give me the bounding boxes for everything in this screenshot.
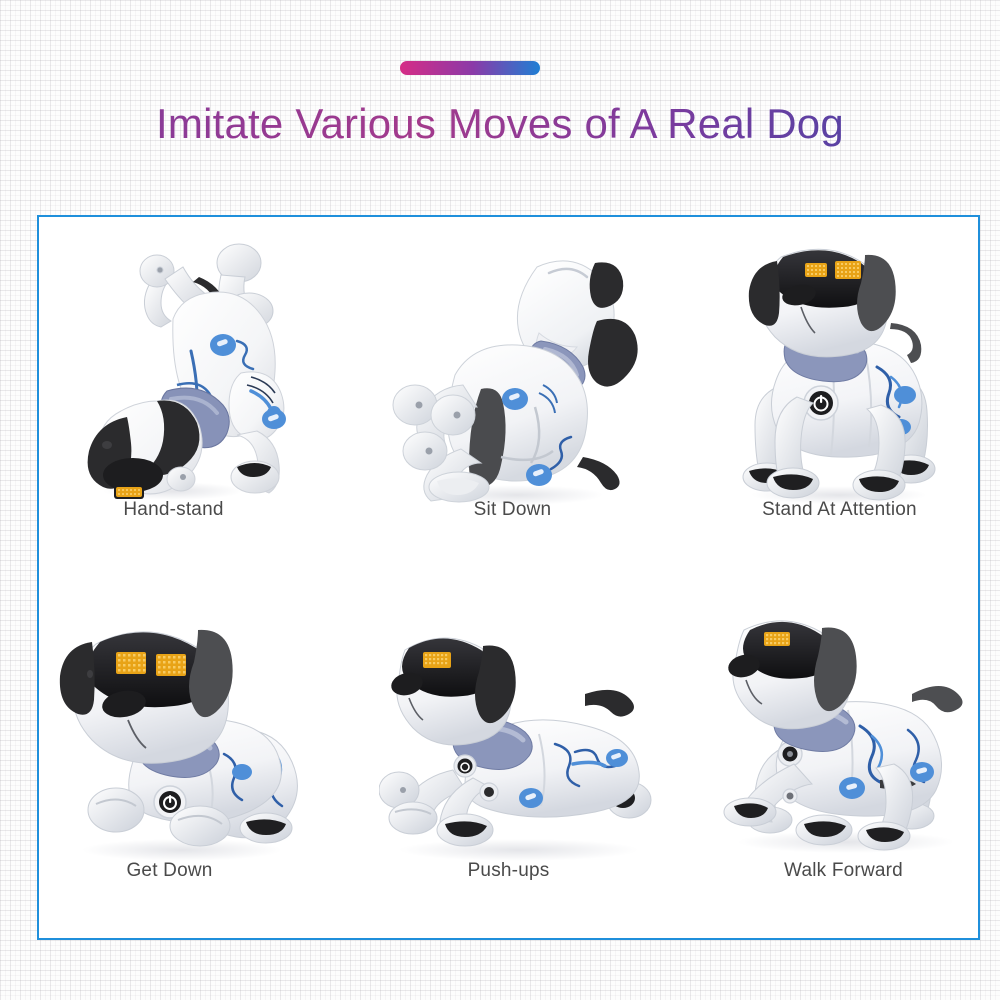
infographic-page: Imitate Various Moves of A Real Dog xyxy=(0,0,1000,1000)
robot-dog-handstand-illustration xyxy=(29,223,342,501)
move-card-get-down[interactable]: Get Down xyxy=(39,578,352,939)
page-title: Imitate Various Moves of A Real Dog xyxy=(0,100,1000,148)
move-card-push-ups[interactable]: Push-ups xyxy=(352,578,665,939)
moves-showcase-card: Hand-stand xyxy=(37,215,980,940)
robot-dog-sit-down-illustration xyxy=(362,229,675,507)
move-card-hand-stand[interactable]: Hand-stand xyxy=(39,217,352,578)
move-label-push-ups: Push-ups xyxy=(468,860,550,882)
move-label-stand-at-attention: Stand At Attention xyxy=(762,499,917,521)
accent-bar xyxy=(400,61,540,75)
move-label-hand-stand: Hand-stand xyxy=(123,499,223,521)
robot-dog-walk-forward-illustration xyxy=(689,594,1000,872)
move-label-sit-down: Sit Down xyxy=(474,499,552,521)
move-card-sit-down[interactable]: Sit Down xyxy=(352,217,665,578)
robot-dog-push-ups-illustration xyxy=(362,604,675,882)
robot-dog-get-down-illustration xyxy=(25,594,338,872)
move-label-get-down: Get Down xyxy=(126,860,212,882)
robot-dog-stand-illustration xyxy=(683,227,996,505)
move-card-stand-at-attention[interactable]: Stand At Attention xyxy=(665,217,978,578)
moves-grid: Hand-stand xyxy=(39,217,978,938)
move-label-walk-forward: Walk Forward xyxy=(784,860,903,882)
move-card-walk-forward-illustration[interactable]: Walk Forward xyxy=(665,578,978,939)
